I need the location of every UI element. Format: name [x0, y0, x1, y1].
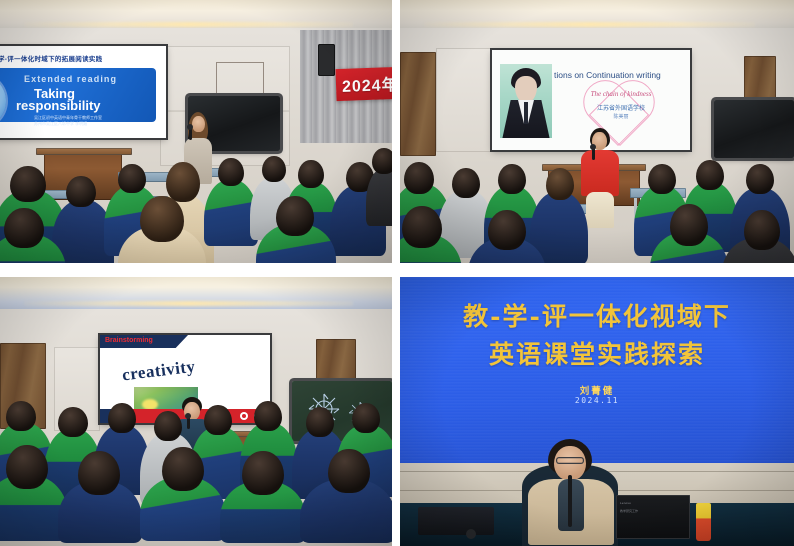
student-head — [66, 176, 96, 207]
slide-tl: 学-评一体化时域下的拓展阅读实践 Extended reading Taking… — [0, 46, 166, 138]
speaker-icon — [318, 44, 335, 76]
student-head — [488, 210, 526, 250]
audience-tl — [0, 142, 392, 263]
student-head — [154, 411, 182, 441]
student-head — [6, 445, 48, 489]
glasses-icon — [556, 457, 584, 464]
student-head — [696, 160, 724, 190]
student-head — [648, 164, 676, 194]
student-head — [162, 447, 204, 491]
laptop-brand-label: Lenovo — [620, 501, 631, 505]
slide-title-line1: 教-学-评一体化视域下 — [400, 297, 794, 333]
student-head — [328, 449, 370, 493]
student-head — [402, 206, 442, 248]
handheld-mic-icon — [466, 529, 476, 539]
photo-top-left: 学-评一体化时域下的拓展阅读实践 Extended reading Taking… — [0, 0, 392, 263]
slide-school-name: 江苏省外国语学校 — [580, 103, 662, 112]
student-head — [218, 158, 244, 186]
slide-header-text: tions on Continuation writing — [554, 70, 661, 80]
slide-heart-title: The chain of kindness — [580, 90, 662, 98]
laptop: Lenovo 教学研究工作 — [616, 495, 690, 539]
audience-bl — [0, 395, 392, 546]
photo-top-right: tions on Continuation writing The chain … — [400, 0, 794, 263]
microphone-head-icon — [187, 124, 193, 130]
wood-accent-panel — [316, 339, 356, 383]
photo-collage: 学-评一体化时域下的拓展阅读实践 Extended reading Taking… — [0, 0, 794, 546]
student-head — [298, 160, 324, 188]
slide-presenter-name: 刘菁健 — [400, 383, 794, 397]
photo-bottom-left: Brainstorming creativity — [0, 277, 392, 546]
student-head — [108, 403, 136, 433]
audience-tr — [400, 142, 794, 263]
thermos-bottle — [696, 503, 711, 541]
wood-accent-panel — [216, 62, 264, 96]
projection-screen-tl: 学-评一体化时域下的拓展阅读实践 Extended reading Taking… — [0, 46, 166, 138]
classroom-scene-bl: Brainstorming creativity — [0, 277, 392, 546]
student-head — [546, 168, 574, 200]
student-head — [58, 407, 88, 437]
title-slide: 教-学-评一体化视域下 英语课堂实践探索 刘菁健 2024.11 — [400, 277, 794, 463]
slide-subline-1: 吴江区初中英语中青年骨干教师工作室 — [34, 115, 102, 121]
lecture-scene-br: 教-学-评一体化视域下 英语课堂实践探索 刘菁健 2024.11 — [400, 277, 794, 546]
presenter-head — [192, 116, 205, 132]
student-head — [10, 166, 46, 202]
photo-bottom-right: 教-学-评一体化视域下 英语课堂实践探索 刘菁健 2024.11 — [400, 277, 794, 546]
student-head — [262, 156, 286, 182]
student-head — [4, 208, 44, 248]
student-head — [306, 407, 334, 437]
student-portrait-photo — [500, 64, 552, 138]
portrait-tie — [524, 102, 528, 124]
event-banner-text: 2024年江苏 — [336, 70, 392, 97]
student-head — [6, 401, 36, 431]
laptop-sticker-label: 教学研究工作 — [620, 509, 638, 513]
audience-head — [166, 162, 200, 202]
slide-circle-graphic — [0, 74, 6, 128]
classroom-scene-tr: tions on Continuation writing The chain … — [400, 0, 794, 263]
audience-head — [372, 148, 392, 174]
slide-date: 2024.11 — [400, 396, 794, 405]
portrait-face — [515, 76, 537, 103]
seated-speaker — [526, 439, 614, 546]
student-head — [404, 162, 434, 194]
wall-panel — [436, 48, 492, 152]
student-head — [746, 164, 774, 194]
student-head — [118, 164, 146, 193]
student-head — [276, 196, 314, 236]
projector-device — [418, 507, 494, 535]
student-head — [498, 164, 526, 194]
classroom-scene-tl: 学-评一体化时域下的拓展阅读实践 Extended reading Taking… — [0, 0, 392, 263]
audience-head — [140, 196, 184, 242]
cove-light — [24, 22, 353, 27]
student-head — [452, 168, 480, 198]
slide-title-cn: 学-评一体化时域下的拓展阅读实践 — [0, 53, 102, 63]
student-head — [254, 401, 282, 431]
slide-subline-2: 苏州市吴江区八坼中学 李明媚 — [34, 121, 87, 127]
audience-head — [744, 210, 780, 250]
desk-microphone-icon — [568, 475, 572, 527]
slide-wordart: creativity — [121, 357, 196, 386]
slide-blue-panel: Extended reading Taking responsibility 吴… — [0, 68, 156, 122]
door — [400, 52, 436, 156]
student-head — [352, 403, 380, 433]
student-head — [670, 204, 708, 246]
slide-title-line2: 英语课堂实践探索 — [400, 335, 794, 371]
student-head — [78, 451, 120, 495]
cove-light — [24, 301, 353, 306]
slide-eyebrow: Extended reading — [24, 74, 117, 84]
event-banner: 2024年江苏 — [335, 67, 392, 101]
student-head — [204, 405, 232, 435]
slide-teacher-name: 陈美丽 — [580, 113, 662, 120]
cove-light — [424, 22, 755, 27]
student-head — [242, 451, 284, 495]
slide-tab-label: Brainstorming — [105, 337, 153, 344]
slide-headline-2: responsibility — [16, 98, 101, 113]
